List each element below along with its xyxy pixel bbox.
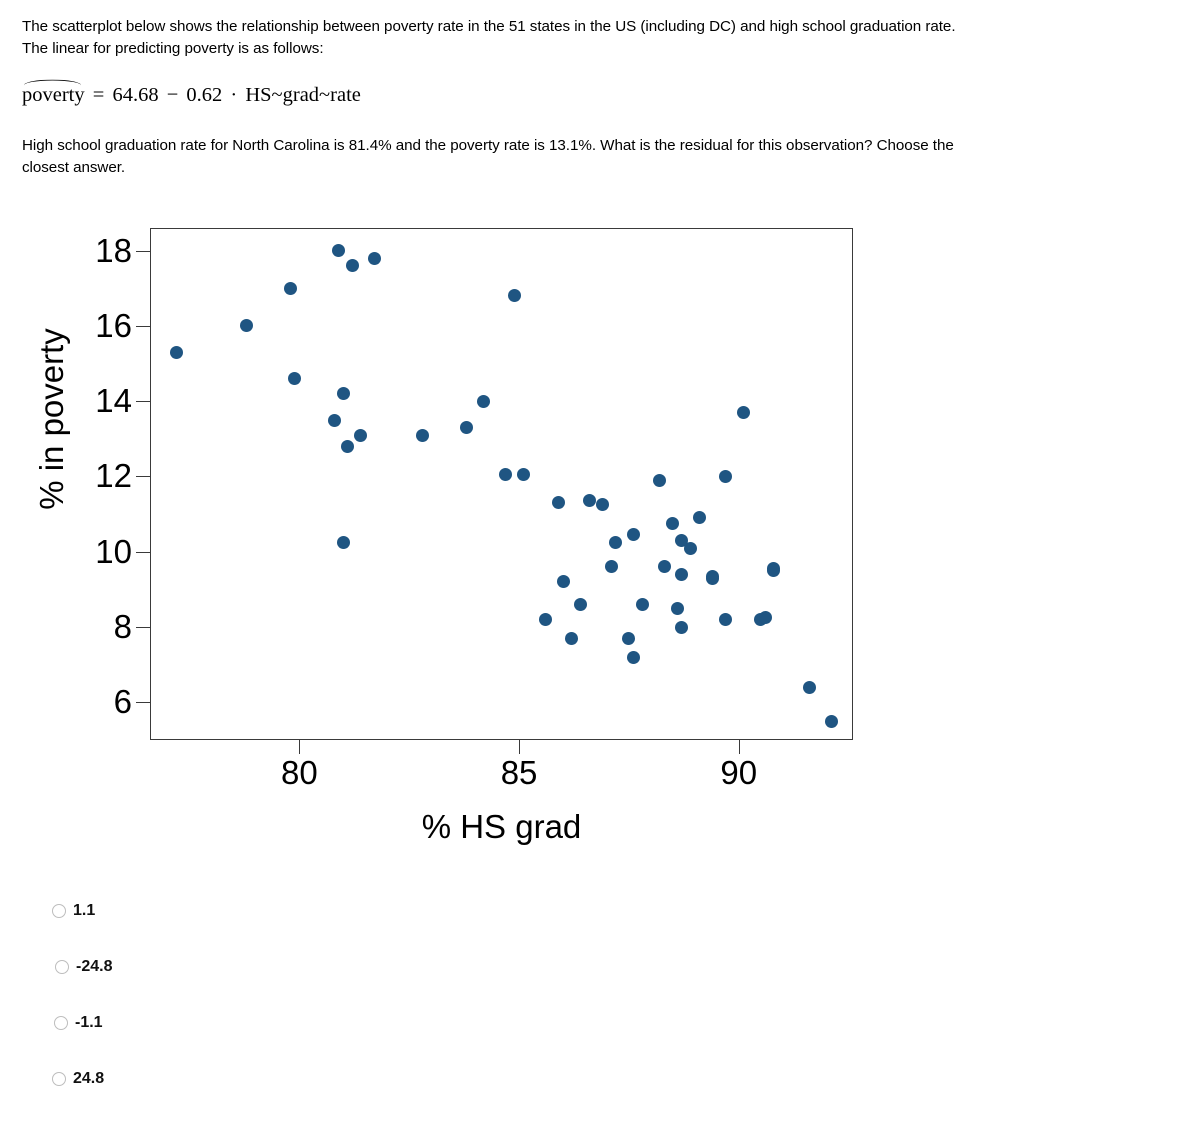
data-points-layer [150,228,853,740]
data-point [671,602,684,615]
data-point [627,528,640,541]
answer-option-1[interactable]: -24.8 [55,954,472,980]
data-point [337,536,350,549]
data-point [605,560,618,573]
answer-option-label: 24.8 [73,1070,104,1088]
answer-option-2[interactable]: -1.1 [54,1010,472,1036]
data-point [552,496,565,509]
answer-option-0[interactable]: 1.1 [52,898,472,924]
y-axis-tick [136,552,150,553]
data-point [539,613,552,626]
data-point [341,440,354,453]
data-point [706,572,719,585]
x-axis-tick-label: 90 [689,756,789,789]
regression-formula: poverty = 64.68 − 0.62 · HS~grad~rate [22,82,361,107]
data-point [288,372,301,385]
formula-intercept: 64.68 [112,84,158,106]
data-point [636,598,649,611]
answer-option-label: -1.1 [75,1014,103,1032]
data-point [328,414,341,427]
x-axis-title: % HS grad [150,808,853,846]
radio-button-icon[interactable] [52,904,66,918]
y-axis-tick [136,326,150,327]
question-intro: The scatterplot below shows the relation… [22,16,982,60]
data-point [368,252,381,265]
question-block: The scatterplot below shows the relation… [22,16,982,60]
answer-options: 1.1-24.8-1.124.8 [52,898,472,1122]
data-point [508,289,521,302]
x-axis-tick-label: 80 [249,756,349,789]
data-point [583,494,596,507]
data-point [759,611,772,624]
data-point [354,429,367,442]
x-axis-tick [519,740,520,754]
data-point [609,536,622,549]
data-point [332,244,345,257]
scatterplot: 681012141618 808590 % HS grad % in pover… [0,200,900,880]
data-point [767,564,780,577]
data-point [693,511,706,524]
radio-button-icon[interactable] [52,1072,66,1086]
data-point [653,474,666,487]
radio-button-icon[interactable] [54,1016,68,1030]
y-axis-tick [136,476,150,477]
question-tail-line-1: High school graduation rate for North Ca… [22,137,754,154]
formula-equals: = [90,84,108,106]
data-point [719,470,732,483]
data-point [574,598,587,611]
question-intro-line-1: The scatterplot below shows the relation… [22,18,736,35]
data-point [170,346,183,359]
data-point [499,468,512,481]
data-point [666,517,679,530]
data-point [675,621,688,634]
data-point [477,395,490,408]
answer-option-label: 1.1 [73,902,95,920]
formula-predictor: HS~grad~rate [245,84,361,106]
data-point [240,319,253,332]
formula-minus: − [164,84,182,106]
y-axis-title: % in poverty [33,219,71,619]
data-point [557,575,570,588]
data-point [460,421,473,434]
data-point [675,568,688,581]
y-axis-tick [136,702,150,703]
x-axis-tick [739,740,740,754]
formula-slope: 0.62 [186,84,222,106]
data-point [803,681,816,694]
question-tail: High school graduation rate for North Ca… [22,135,992,179]
data-point [825,715,838,728]
data-point [337,387,350,400]
radio-button-icon[interactable] [55,960,69,974]
data-point [517,468,530,481]
y-axis-tick [136,627,150,628]
y-axis-tick [136,251,150,252]
data-point [416,429,429,442]
hat-accent-icon [24,80,81,87]
formula-lhs-with-hat: poverty [22,82,85,107]
data-point [622,632,635,645]
data-point [684,542,697,555]
y-axis-tick-label: 6 [60,685,132,718]
answer-option-3[interactable]: 24.8 [52,1066,472,1092]
data-point [627,651,640,664]
y-axis-tick [136,401,150,402]
data-point [596,498,609,511]
data-point [737,406,750,419]
x-axis-tick-label: 85 [469,756,569,789]
answer-option-label: -24.8 [76,958,112,976]
x-axis-tick [299,740,300,754]
data-point [658,560,671,573]
formula-multiplication-dot: · [227,84,240,106]
data-point [346,259,359,272]
data-point [719,613,732,626]
formula-lhs: poverty [22,84,85,106]
data-point [565,632,578,645]
data-point [284,282,297,295]
